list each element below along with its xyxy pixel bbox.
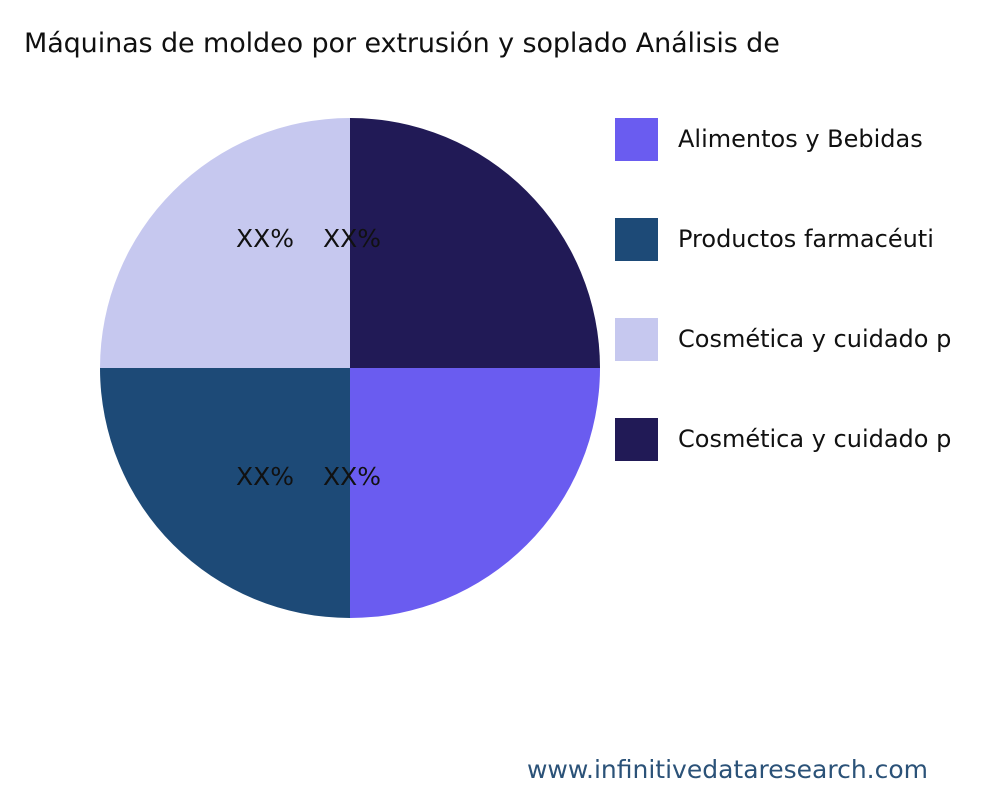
pie-chart-svg: XX% XX% XX% XX% — [100, 118, 600, 618]
pie-slice-label-bottom-right: XX% — [323, 462, 381, 491]
legend-swatch-icon — [615, 118, 658, 161]
legend-item-label: Productos farmacéuti — [678, 218, 934, 261]
legend-item-alimentos-y-bebidas[interactable]: Alimentos y Bebidas — [615, 118, 1000, 218]
legend-swatch-icon — [615, 318, 658, 361]
pie-chart: XX% XX% XX% XX% — [100, 118, 600, 618]
legend-item-label: Cosmética y cuidado p — [678, 318, 951, 361]
legend-item-label: Alimentos y Bebidas — [678, 118, 923, 161]
legend-swatch-icon — [615, 218, 658, 261]
footer-url-text[interactable]: www.infinitivedataresearch.com — [527, 755, 928, 784]
legend-item-productos-farmaceuticos[interactable]: Productos farmacéuti — [615, 218, 1000, 318]
footer-watermark: www.infinitivedataresearch.com — [0, 755, 1000, 784]
page-title: Máquinas de moldeo por extrusión y sopla… — [24, 26, 1000, 62]
pie-slice-label-top-left: XX% — [236, 224, 294, 253]
legend-item-label: Cosmética y cuidado p — [678, 418, 951, 461]
pie-slice-bottom-left[interactable] — [100, 368, 350, 618]
pie-slice-label-bottom-left: XX% — [236, 462, 294, 491]
legend: Alimentos y Bebidas Productos farmacéuti… — [615, 118, 1000, 518]
legend-swatch-icon — [615, 418, 658, 461]
pie-slice-bottom-right[interactable] — [350, 368, 600, 618]
legend-item-cosmetica-cuidado-2[interactable]: Cosmética y cuidado p — [615, 418, 1000, 518]
pie-slice-label-top-right: XX% — [323, 224, 381, 253]
pie-slice-top-left[interactable] — [100, 118, 350, 368]
legend-item-cosmetica-cuidado-1[interactable]: Cosmética y cuidado p — [615, 318, 1000, 418]
pie-slice-top-right[interactable] — [350, 118, 600, 368]
